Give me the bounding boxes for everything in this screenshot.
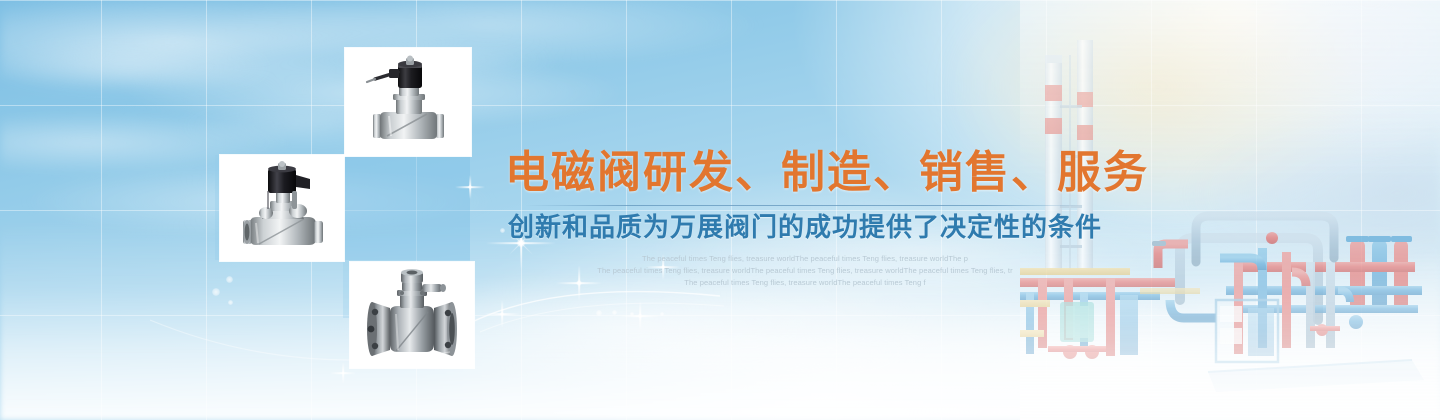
product-card[interactable] [345, 48, 471, 156]
bokeh-dot [212, 288, 220, 296]
headline: 电磁阀研发、制造、销售、服务 [505, 148, 1105, 197]
hero-banner: 电磁阀研发、制造、销售、服务 创新和品质为万展阀门的成功提供了决定性的条件 Th… [0, 0, 1440, 420]
bokeh-dot [226, 276, 233, 283]
solenoid-valve-threaded-top-image [351, 54, 465, 150]
filler-text-line: The peaceful times Teng flies, treasure … [505, 253, 1105, 265]
filler-text-line: The peaceful times Teng flies, treasure … [505, 265, 1105, 277]
bokeh-dot [228, 300, 233, 305]
bokeh-dot [596, 310, 602, 316]
bokeh-dot [660, 312, 664, 316]
product-card[interactable] [350, 262, 474, 368]
solenoid-valve-flanged-image [356, 268, 468, 362]
tile-block [343, 155, 470, 260]
solenoid-valve-threaded-angled-image [226, 161, 338, 255]
bokeh-dot [630, 312, 634, 316]
hero-copy: 电磁阀研发、制造、销售、服务 创新和品质为万展阀门的成功提供了决定性的条件 Th… [505, 148, 1105, 289]
filler-text-block: The peaceful times Teng flies, treasure … [505, 253, 1105, 289]
subheadline: 创新和品质为万展阀门的成功提供了决定性的条件 [505, 212, 1105, 243]
bokeh-dot [612, 310, 617, 315]
product-card[interactable] [220, 155, 344, 261]
filler-text-line: The peaceful times Teng flies, treasure … [505, 277, 1105, 289]
divider-rule [525, 205, 1085, 206]
